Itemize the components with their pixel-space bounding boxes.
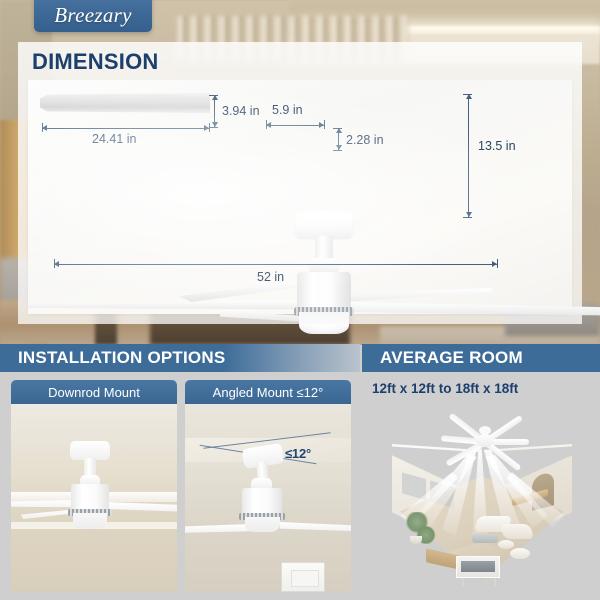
iso-fan-hub xyxy=(476,434,494,447)
fan-light-glow xyxy=(304,324,344,334)
iso-ottoman-2 xyxy=(498,540,514,549)
blade-span-arrow-left xyxy=(54,261,59,267)
brand-name: Breezary xyxy=(54,3,131,32)
total-height-cap-top xyxy=(463,94,472,95)
dimension-diagram-area: 3.94 in 24.41 in 5.9 in 2.28 in xyxy=(28,80,572,314)
blade-length-label: 24.41 in xyxy=(92,132,136,146)
average-room-area: 12ft x 12ft to 18ft x 18ft xyxy=(362,372,600,600)
blade-span-cap-left xyxy=(54,259,55,268)
blade-height-label: 3.94 in xyxy=(222,104,260,118)
canopy-width-label: 5.9 in xyxy=(272,103,303,117)
blade-span-line xyxy=(54,264,497,265)
infographic-canvas: Breezary DIMENSION 3.94 in 24.41 in 5.9 … xyxy=(0,0,600,600)
total-height-label: 13.5 in xyxy=(478,139,516,153)
blade-span-cap-right xyxy=(497,259,498,268)
blade-length-arrow-right xyxy=(204,125,209,131)
iso-coffee-table xyxy=(472,534,498,543)
downrod-mount-photo xyxy=(11,404,177,592)
average-room-banner: AVERAGE ROOM xyxy=(362,344,600,372)
canopy-height-cap-bottom xyxy=(333,150,342,151)
blade-height-cap-top xyxy=(209,95,218,96)
blade-length-cap-right xyxy=(209,123,210,132)
iso-planter xyxy=(410,536,422,544)
dm-light-kit xyxy=(73,513,107,529)
iso-tv-leg-right xyxy=(494,578,496,586)
average-room-size-label: 12ft x 12ft to 18ft x 18ft xyxy=(372,381,518,396)
angled-mount-label: Angled Mount ≤12° xyxy=(213,385,324,400)
canopy-height-cap-top xyxy=(333,128,342,129)
installation-section-title: INSTALLATION OPTIONS xyxy=(18,348,225,368)
blade-height-line xyxy=(214,95,215,127)
blade-length-arrow-left xyxy=(42,125,47,131)
iso-sofa-right xyxy=(500,524,535,539)
canopy-height-arrow-up xyxy=(336,128,342,133)
canopy-height-label: 2.28 in xyxy=(346,133,384,147)
total-height-cap-bottom xyxy=(463,217,472,218)
iso-tv-console xyxy=(456,556,500,578)
blade-length-cap-left xyxy=(42,123,43,132)
canopy-width-arrow-left xyxy=(266,122,271,128)
blade-length-line xyxy=(42,128,209,129)
installation-options-area: Downrod Mount Angled Mount ≤12° xyxy=(0,372,360,600)
blade-span-label: 52 in xyxy=(257,270,284,284)
fan-blade-left-upper xyxy=(176,280,304,302)
angled-mount-photo: ≤12° xyxy=(185,404,351,592)
total-height-line xyxy=(468,94,469,217)
fan-blade-right-upper xyxy=(344,288,494,306)
total-height-arrow-up xyxy=(466,94,472,99)
blade-span-arrow-right xyxy=(492,261,497,267)
average-room-illustration xyxy=(362,402,600,600)
canopy-width-cap-left xyxy=(266,120,267,129)
fan-blade-profile xyxy=(40,93,210,113)
fan-motor-housing xyxy=(297,272,351,314)
fan-downrod xyxy=(315,236,333,262)
blade-height-arrow-up xyxy=(212,95,218,100)
installation-banner: INSTALLATION OPTIONS xyxy=(0,344,360,372)
blade-height-cap-bottom xyxy=(209,127,218,128)
fan-blade-left-lower xyxy=(220,308,306,322)
canopy-width-arrow-right xyxy=(319,122,324,128)
am-light-kit xyxy=(245,517,280,532)
canopy-width-line xyxy=(266,125,324,126)
downrod-mount-label: Downrod Mount xyxy=(48,385,140,400)
installation-option-angled[interactable]: Angled Mount ≤12° ≤12° xyxy=(185,380,351,592)
iso-tv-leg-left xyxy=(462,578,464,586)
angled-mount-tab[interactable]: Angled Mount ≤12° xyxy=(185,380,351,404)
iso-ceiling-fan xyxy=(440,420,530,466)
iso-ottoman-1 xyxy=(510,548,530,559)
fan-blade-right-lower xyxy=(344,302,600,316)
am-wall-switch xyxy=(281,562,325,592)
installation-option-downrod[interactable]: Downrod Mount xyxy=(11,380,177,592)
fan-ball-joint xyxy=(309,258,339,274)
brand-logo: Breezary xyxy=(34,0,152,32)
average-room-section-title: AVERAGE ROOM xyxy=(380,348,523,368)
canopy-height-line xyxy=(338,128,339,150)
iso-fan-canopy xyxy=(479,426,491,435)
fan-canopy xyxy=(295,214,353,238)
section-banner-row: INSTALLATION OPTIONS AVERAGE ROOM xyxy=(0,344,600,372)
downrod-mount-tab[interactable]: Downrod Mount xyxy=(11,380,177,404)
canopy-height-arrow-down xyxy=(336,145,342,150)
blade-height-arrow-down xyxy=(212,122,218,127)
canopy-width-cap-right xyxy=(324,120,325,129)
am-angle-annotation: ≤12° xyxy=(285,446,311,461)
dimension-section-title: DIMENSION xyxy=(32,49,158,75)
total-height-arrow-down xyxy=(466,212,472,217)
isometric-room xyxy=(380,420,584,590)
ceiling-fan-illustration xyxy=(168,208,478,343)
fan-blade-far-left xyxy=(28,300,308,311)
